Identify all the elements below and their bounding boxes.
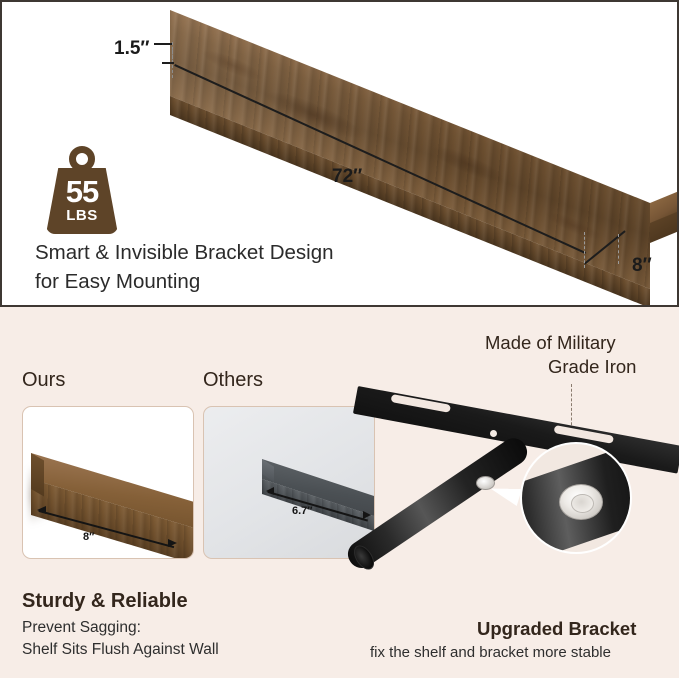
shelf-3d-stage bbox=[170, 10, 640, 265]
dimension-label-length: 72″ bbox=[332, 166, 362, 188]
comparison-card-others: 6.7″ bbox=[203, 406, 375, 559]
comparison-title-others: Others bbox=[203, 369, 263, 392]
weight-badge-unit: LBS bbox=[46, 208, 118, 223]
sturdy-line-1: Prevent Sagging: bbox=[22, 618, 141, 639]
headline-line-2: for Easy Mounting bbox=[35, 267, 555, 296]
weight-badge-icon: 55 LBS bbox=[46, 146, 118, 234]
depth-extension-left bbox=[584, 232, 585, 268]
sturdy-line-2: Shelf Sits Flush Against Wall bbox=[22, 640, 219, 661]
bracket-illustration bbox=[370, 368, 679, 618]
military-iron-label-line-1: Made of Military bbox=[485, 332, 616, 354]
others-arrow-head-left bbox=[266, 487, 274, 495]
product-dimensions-panel: 1.5″ 72″ 8″ 55 LBS Smart & Invisible Bra… bbox=[0, 0, 679, 307]
comparison-title-ours: Ours bbox=[22, 369, 65, 392]
ours-arrow-head-left bbox=[37, 506, 46, 514]
page-title: Smart & Invisible Bracket Design for Eas… bbox=[35, 238, 555, 296]
headline-line-1: Smart & Invisible Bracket Design bbox=[35, 238, 555, 267]
thickness-tick-top bbox=[154, 43, 172, 45]
upgraded-bracket-subtext: fix the shelf and bracket more stable bbox=[370, 644, 611, 661]
comparison-card-ours: 8″ bbox=[22, 406, 194, 559]
bracket-pivot-hole bbox=[490, 430, 497, 437]
magnifier-circle bbox=[520, 442, 632, 554]
depth-extension-right bbox=[618, 234, 619, 264]
magnifier-pointer bbox=[488, 480, 522, 506]
features-panel: Ours Others 8″ 6.7″ Sturdy & Reliable Pr… bbox=[0, 318, 679, 678]
sturdy-heading: Sturdy & Reliable bbox=[22, 590, 188, 613]
thickness-tick-bottom bbox=[162, 62, 174, 64]
weight-badge-value: 55 bbox=[46, 176, 118, 207]
ours-dimension-label: 8″ bbox=[83, 531, 94, 543]
bracket-support-rod bbox=[343, 433, 532, 573]
dimension-label-depth: 8″ bbox=[632, 255, 652, 277]
thickness-extension-lower bbox=[172, 50, 173, 78]
ours-shelf-end-cap bbox=[31, 453, 44, 497]
dimension-label-thickness: 1.5″ bbox=[114, 38, 150, 60]
magnified-screw-cap bbox=[559, 484, 603, 520]
upgraded-bracket-heading: Upgraded Bracket bbox=[477, 618, 636, 640]
ours-arrow-head-right bbox=[168, 539, 177, 547]
others-dimension-label: 6.7″ bbox=[292, 505, 313, 517]
